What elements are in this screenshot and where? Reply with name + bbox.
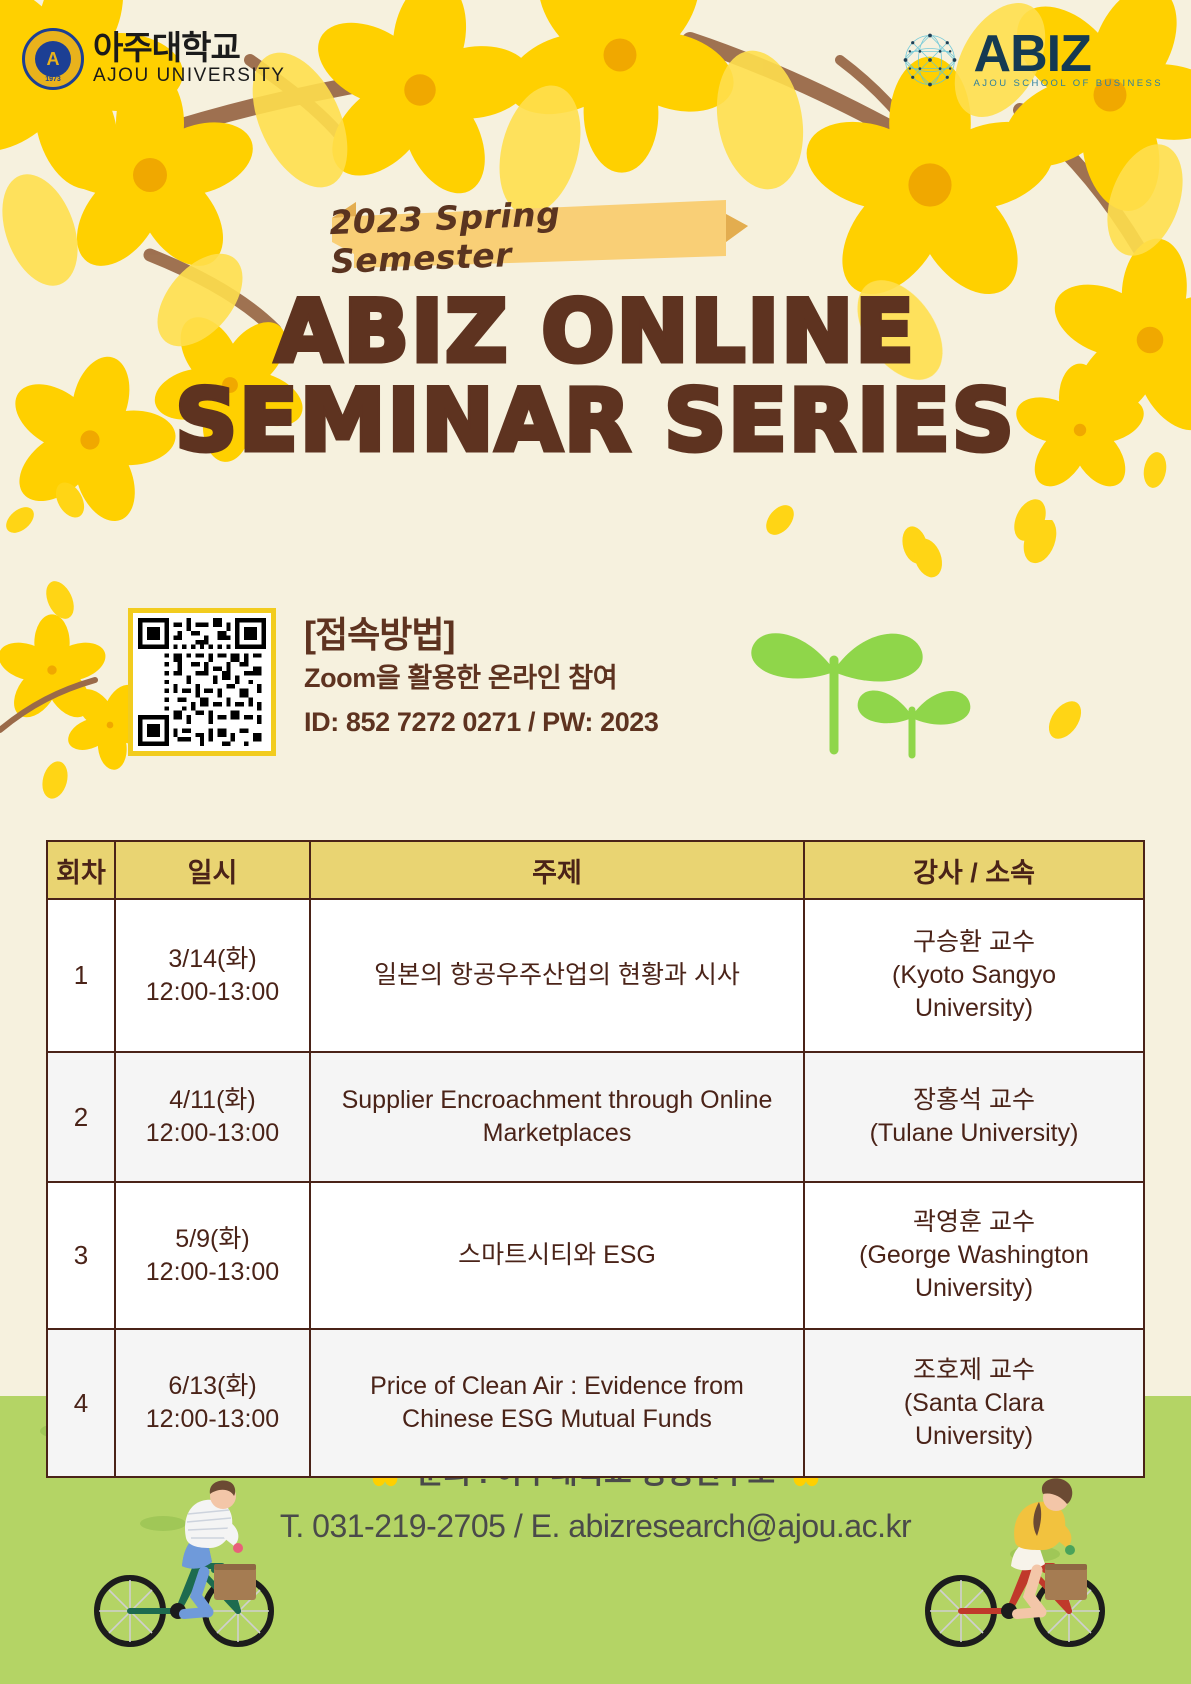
row-3-topic: 스마트시티와 ESG	[310, 1182, 804, 1329]
abiz-wordmark: ABIZ	[974, 31, 1163, 79]
row-2-no: 2	[47, 1052, 115, 1182]
qr-code[interactable]	[128, 608, 276, 756]
table-header-row: 회차 일시 주제 강사 / 소속	[47, 841, 1144, 899]
access-credentials: ID: 852 7272 0271 / PW: 2023	[304, 703, 659, 742]
row-2-when: 4/11(화)12:00-13:00	[115, 1052, 310, 1182]
row-3-speaker: 곽영훈 교수(George WashingtonUniversity)	[804, 1182, 1144, 1329]
poster-title-line-1: ABIZ ONLINE	[0, 288, 1191, 377]
column-header-speaker: 강사 / 소속	[804, 841, 1144, 899]
sprout-icon	[751, 633, 922, 750]
column-header-no: 회차	[47, 841, 115, 899]
sprout-small-icon	[858, 690, 971, 755]
ajou-name-en: AJOU UNIVERSITY	[93, 64, 285, 88]
row-3-no: 3	[47, 1182, 115, 1329]
ajou-name-ko: 아주대학교	[93, 31, 285, 64]
abiz-tagline: AJOU SCHOOL OF BUSINESS	[974, 79, 1163, 89]
access-method: Zoom을 활용한 온라인 참여	[304, 659, 659, 698]
row-4-when: 6/13(화)12:00-13:00	[115, 1329, 310, 1477]
cyclist-illustration-left	[86, 1478, 286, 1658]
column-header-topic: 주제	[310, 841, 804, 899]
table-row: 4 6/13(화)12:00-13:00 Price of Clean Air …	[47, 1329, 1144, 1477]
row-2-topic: Supplier Encroachment through OnlineMark…	[310, 1052, 804, 1182]
qr-code-image	[138, 618, 266, 746]
semester-ribbon: 2023 Spring Semester	[330, 196, 750, 272]
access-heading: [접속방법]	[304, 614, 659, 655]
poster-root: A 1973 아주대학교 AJOU UNIVERSITY	[0, 0, 1191, 1684]
access-info-block: [접속방법] Zoom을 활용한 온라인 참여 ID: 852 7272 027…	[128, 608, 659, 756]
row-4-speaker: 조호제 교수(Santa ClaraUniversity)	[804, 1329, 1144, 1477]
column-header-when: 일시	[115, 841, 310, 899]
ajou-university-logo: A 1973 아주대학교 AJOU UNIVERSITY	[22, 28, 285, 90]
cyclist-illustration-right	[917, 1478, 1117, 1658]
schedule-header: 회차 일시 주제 강사 / 소속	[47, 841, 1144, 899]
row-3-when: 5/9(화)12:00-13:00	[115, 1182, 310, 1329]
row-4-topic: Price of Clean Air : Evidence fromChines…	[310, 1329, 804, 1477]
row-1-topic: 일본의 항공우주산업의 현황과 시사	[310, 899, 804, 1052]
poster-title: ABIZ ONLINE SEMINAR SERIES	[0, 288, 1191, 467]
ajou-seal-icon: A 1973	[22, 28, 84, 90]
seminar-schedule-table: 회차 일시 주제 강사 / 소속 1 3/14(화)12:00-13:00 일본…	[46, 840, 1145, 1478]
row-1-speaker: 구승환 교수(Kyoto SangyoUniversity)	[804, 899, 1144, 1052]
table-row: 3 5/9(화)12:00-13:00 스마트시티와 ESG 곽영훈 교수(Ge…	[47, 1182, 1144, 1329]
ajou-seal-mark: A	[35, 41, 71, 77]
table-row: 2 4/11(화)12:00-13:00 Supplier Encroachme…	[47, 1052, 1144, 1182]
abiz-logo: ABIZ AJOU SCHOOL OF BUSINESS	[894, 24, 1163, 96]
schedule-body: 1 3/14(화)12:00-13:00 일본의 항공우주산업의 현황과 시사 …	[47, 899, 1144, 1477]
semester-ribbon-text: 2023 Spring Semester	[329, 188, 752, 280]
poster-title-line-2: SEMINAR SERIES	[0, 377, 1191, 466]
row-1-when: 3/14(화)12:00-13:00	[115, 899, 310, 1052]
ajou-seal-year: 1973	[25, 76, 81, 83]
row-2-speaker: 장홍석 교수(Tulane University)	[804, 1052, 1144, 1182]
table-row: 1 3/14(화)12:00-13:00 일본의 항공우주산업의 현황과 시사 …	[47, 899, 1144, 1052]
network-sphere-icon	[894, 24, 966, 96]
row-1-no: 1	[47, 899, 115, 1052]
row-4-no: 4	[47, 1329, 115, 1477]
